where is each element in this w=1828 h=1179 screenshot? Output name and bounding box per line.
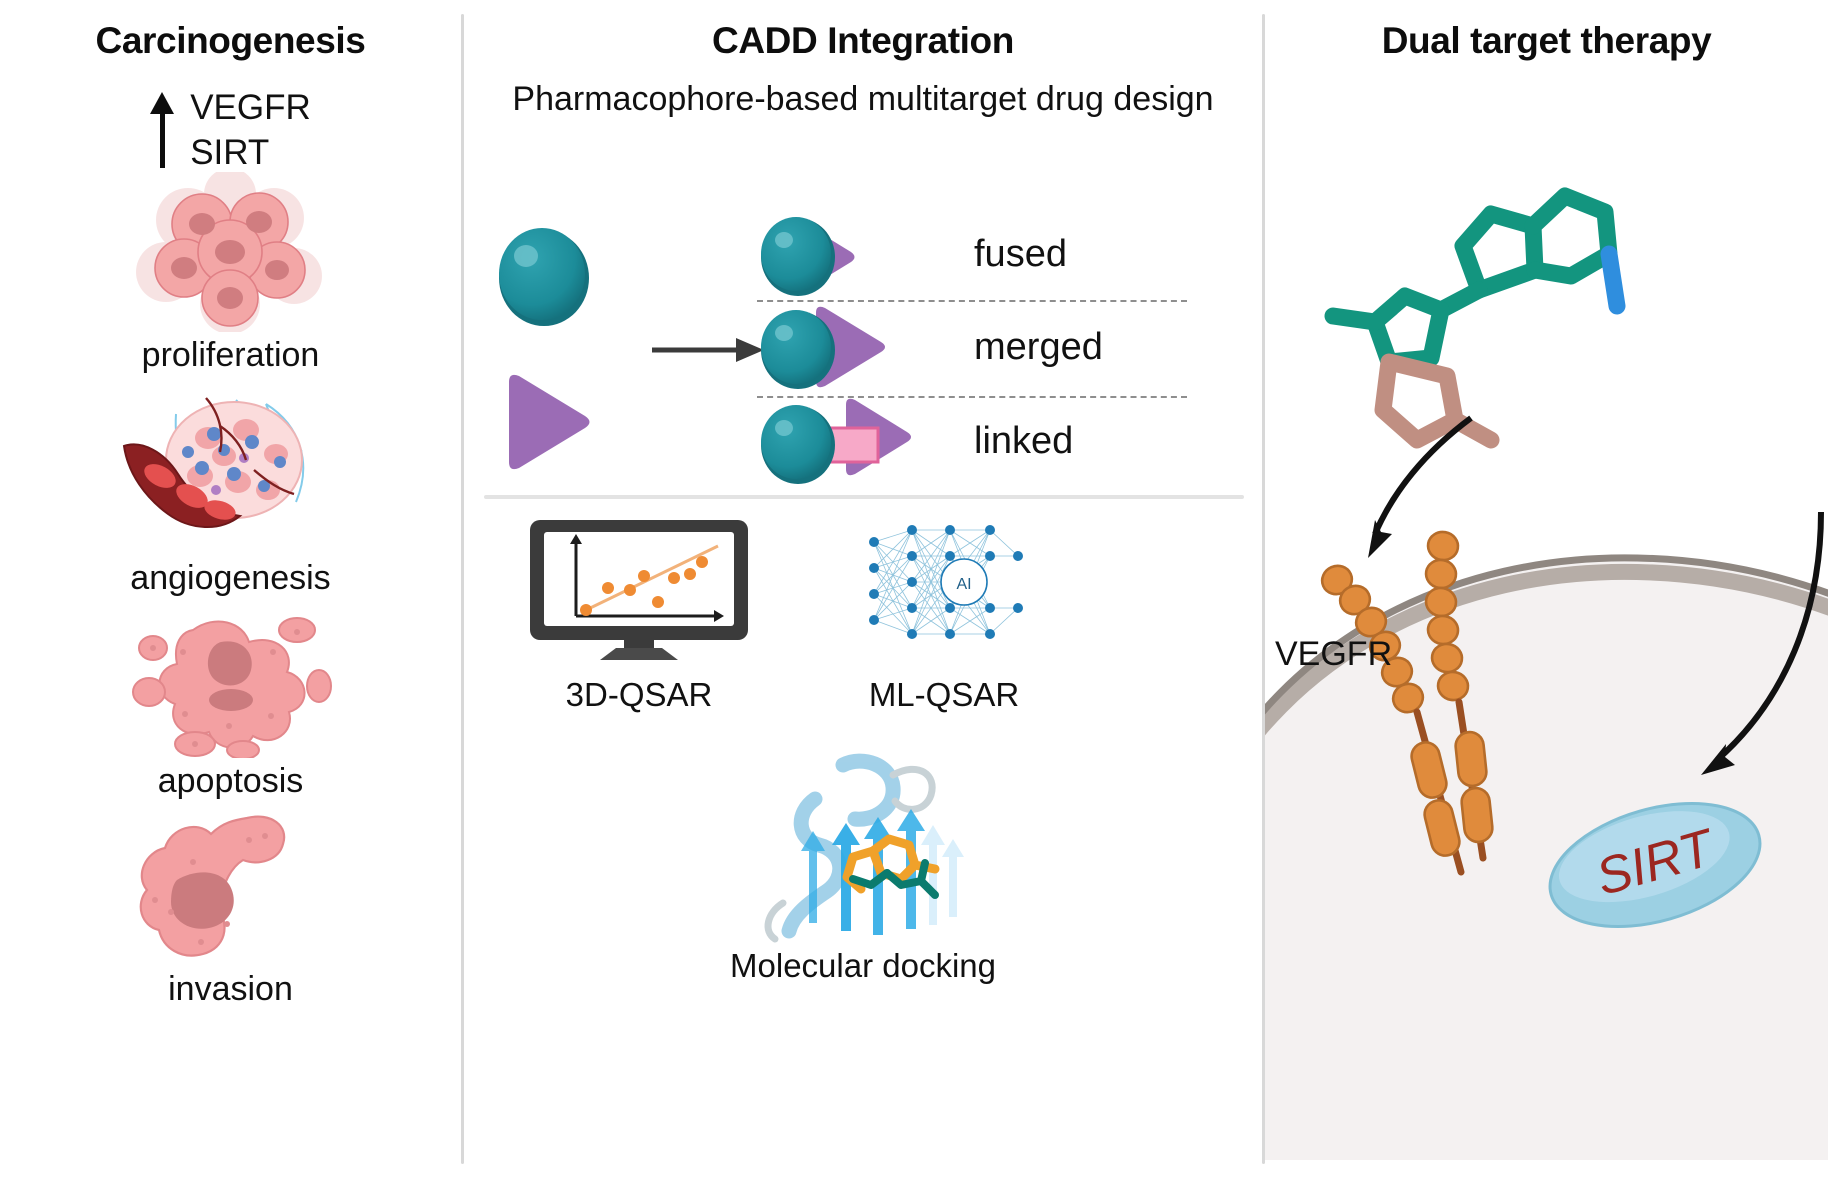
invading-cell-icon (131, 806, 331, 966)
up-arrow-icon (150, 92, 176, 168)
merged-pharmacophore-icon (761, 307, 885, 389)
carcinogenesis-title: Carcinogenesis (0, 20, 461, 62)
vegfr-label: VEGFR (1275, 635, 1392, 674)
strategy-label-linked: linked (974, 420, 1073, 463)
hallmark-angiogenesis: angiogenesis (0, 390, 461, 598)
linked-pharmacophore-icon (761, 399, 911, 484)
angiogenesis-vessel-icon (116, 390, 346, 555)
halogen-substituent-icon (1609, 254, 1617, 306)
column-cadd-integration: CADD Integration Pharmacophore-based mul… (464, 0, 1262, 1179)
dual-target-scene: SIRT (1265, 0, 1828, 1179)
pharmacophore-diagram: fused merged linked (464, 200, 1262, 490)
pharmacophore-shapes (464, 200, 1262, 490)
target-vegfr: VEGFR (190, 86, 311, 131)
hallmark-apoptosis: apoptosis (0, 608, 461, 801)
protein-ligand-docking-icon (723, 735, 1003, 945)
target-sirt: SIRT (190, 131, 311, 176)
strategy-separator-2 (757, 396, 1187, 398)
hallmark-caption: proliferation (0, 336, 461, 375)
cadd-subtitle: Pharmacophore-based multitarget drug des… (464, 78, 1262, 122)
teal-sphere-icon (499, 228, 589, 326)
purple-triangle-icon (509, 375, 590, 469)
column-carcinogenesis: Carcinogenesis VEGFR SIRT (0, 0, 461, 1179)
method-caption: Molecular docking (464, 947, 1262, 985)
column-dual-target-therapy: Dual target therapy (1265, 0, 1828, 1179)
hallmark-invasion: invasion (0, 806, 461, 1009)
neural-network-icon: AI (854, 516, 1034, 661)
right-arrow-icon (652, 338, 764, 362)
apoptotic-cell-fragments-icon (123, 608, 338, 758)
hallmark-proliferation: proliferation (0, 172, 461, 375)
tumor-cell-cluster-icon (126, 172, 336, 332)
method-caption: 3D-QSAR (509, 676, 769, 714)
hallmark-caption: apoptosis (0, 762, 461, 801)
method-ml-qsar: AI ML-QSAR (794, 516, 1094, 714)
method-caption: ML-QSAR (794, 676, 1094, 714)
hallmark-caption: invasion (0, 970, 461, 1009)
aryl-ring-icon (1383, 362, 1491, 440)
section-divider (484, 495, 1244, 499)
monitor-scatterplot-icon (524, 516, 754, 661)
cadd-title: CADD Integration (464, 20, 1262, 62)
graphical-abstract: Carcinogenesis VEGFR SIRT (0, 0, 1828, 1179)
strategy-separator-1 (757, 300, 1187, 302)
dual-inhibitor-molecule-icon (1333, 196, 1617, 440)
strategy-label-fused: fused (974, 233, 1067, 276)
fused-pharmacophore-icon (761, 217, 855, 296)
method-3d-qsar: 3D-QSAR (509, 516, 769, 714)
hallmark-caption: angiogenesis (0, 559, 461, 598)
upregulated-target-list: VEGFR SIRT (190, 86, 311, 176)
method-molecular-docking: Molecular docking (464, 735, 1262, 985)
ai-badge-label: AI (956, 576, 971, 593)
upregulated-targets: VEGFR SIRT (0, 86, 461, 176)
strategy-label-merged: merged (974, 326, 1103, 369)
qsar-methods-row: 3D-QSAR (464, 516, 1262, 736)
